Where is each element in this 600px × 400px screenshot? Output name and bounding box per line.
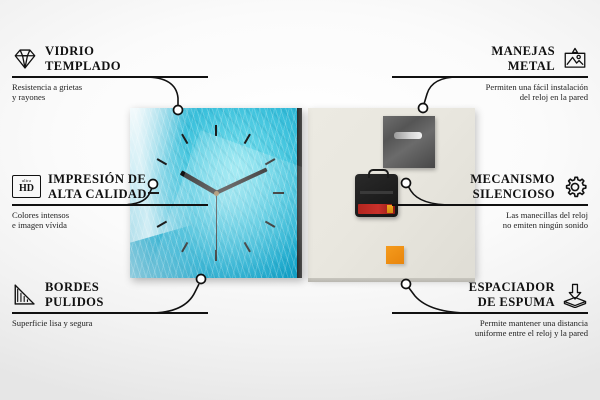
feature-rule: [12, 204, 208, 206]
feature-description: Las manecillas del reloj no emiten ningú…: [392, 210, 588, 231]
feature-title: BORDES PULIDOS: [45, 280, 104, 309]
feature-vidrio-templado: VIDRIO TEMPLADO Resistencia a grietas y …: [12, 44, 208, 103]
feature-header: ultra HD IMPRESIÓN DE ALTA CALIDAD: [12, 172, 208, 201]
feature-title-line2: TEMPLADO: [45, 59, 121, 73]
gear-icon: [562, 174, 588, 200]
feature-bordes-pulidos: BORDES PULIDOS Superficie lisa y segura: [12, 280, 208, 328]
foam-spacer-icon: [562, 282, 588, 308]
feature-description: Permiten una fácil instalación del reloj…: [392, 82, 588, 103]
feature-rule: [12, 312, 208, 314]
feature-desc-line2: no emiten ningún sonido: [503, 220, 588, 230]
diamond-icon: [12, 46, 38, 72]
polished-edge-icon: [12, 282, 38, 308]
product-infographic: VIDRIO TEMPLADO Resistencia a grietas y …: [0, 0, 600, 400]
feature-title: VIDRIO TEMPLADO: [45, 44, 121, 73]
connector-dot-vidrio: [174, 106, 183, 115]
feature-desc-line2: del reloj en la pared: [520, 92, 588, 102]
feature-desc-line1: Resistencia a grietas: [12, 82, 82, 92]
feature-title-line2: PULIDOS: [45, 295, 104, 309]
feature-header: ESPACIADOR DE ESPUMA: [392, 280, 588, 309]
feature-title: MANEJAS METAL: [491, 44, 555, 73]
feature-title-line1: ESPACIADOR: [469, 280, 555, 294]
feature-title: ESPACIADOR DE ESPUMA: [469, 280, 555, 309]
feature-rule: [12, 76, 208, 78]
connector-dot-manejas: [419, 104, 428, 113]
ultra-hd-icon: ultra HD: [12, 175, 41, 198]
feature-desc-line1: Permite mantener una distancia: [480, 318, 588, 328]
feature-title-line2: METAL: [508, 59, 555, 73]
feature-header: MANEJAS METAL: [392, 44, 588, 73]
feature-description: Colores intensos e imagen vívida: [12, 210, 208, 231]
feature-description: Resistencia a grietas y rayones: [12, 82, 208, 103]
feature-manejas-metal: MANEJAS METAL Permiten una fácil instala…: [392, 44, 588, 103]
feature-title-line2: DE ESPUMA: [478, 295, 555, 309]
feature-desc-line2: uniforme entre el reloj y la pared: [475, 328, 588, 338]
feature-espaciador-espuma: ESPACIADOR DE ESPUMA Permite mantener un…: [392, 280, 588, 339]
feature-rule: [392, 312, 588, 314]
picture-frame-icon: [562, 46, 588, 72]
feature-rule: [392, 204, 588, 206]
feature-desc-line2: e imagen vívida: [12, 220, 67, 230]
feature-title-line2: SILENCIOSO: [473, 187, 555, 201]
feature-desc-line1: Superficie lisa y segura: [12, 318, 92, 328]
ultra-hd-big-label: HD: [19, 184, 34, 194]
feature-title-line1: BORDES: [45, 280, 99, 294]
feature-header: MECANISMO SILENCIOSO: [392, 172, 588, 201]
feature-description: Superficie lisa y segura: [12, 318, 208, 329]
feature-rule: [392, 76, 588, 78]
feature-desc-line2: y rayones: [12, 92, 45, 102]
feature-header: BORDES PULIDOS: [12, 280, 208, 309]
feature-title: IMPRESIÓN DE ALTA CALIDAD: [48, 172, 147, 201]
feature-description: Permite mantener una distancia uniforme …: [392, 318, 588, 339]
feature-title-line1: VIDRIO: [45, 44, 94, 58]
feature-header: VIDRIO TEMPLADO: [12, 44, 208, 73]
feature-title: MECANISMO SILENCIOSO: [470, 172, 555, 201]
feature-impresion-alta-calidad: ultra HD IMPRESIÓN DE ALTA CALIDAD Color…: [12, 172, 208, 231]
feature-desc-line1: Permiten una fácil instalación: [486, 82, 588, 92]
feature-title-line1: MECANISMO: [470, 172, 555, 186]
feature-title-line1: MANEJAS: [491, 44, 555, 58]
feature-title-line1: IMPRESIÓN DE: [48, 172, 146, 186]
feature-desc-line1: Colores intensos: [12, 210, 69, 220]
feature-desc-line1: Las manecillas del reloj: [506, 210, 588, 220]
feature-mecanismo-silencioso: MECANISMO SILENCIOSO Las manecillas del …: [392, 172, 588, 231]
feature-title-line2: ALTA CALIDAD: [48, 187, 147, 201]
